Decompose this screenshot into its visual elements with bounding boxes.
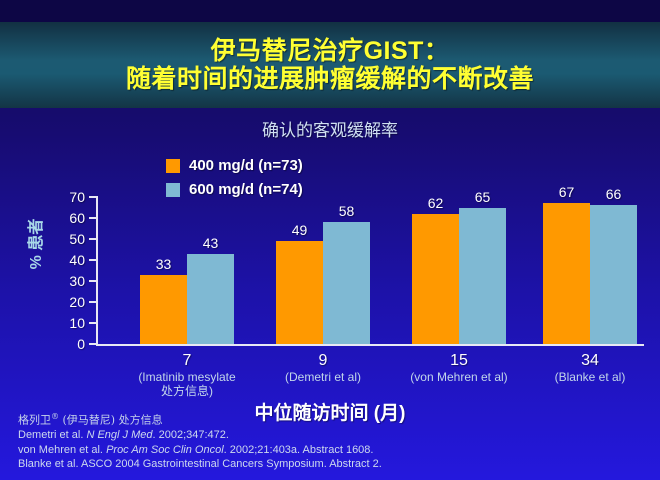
bar-value-7-600: 43: [187, 236, 234, 250]
legend-label-600: 600 mg/d (n=74): [189, 181, 303, 198]
ref1-brand: 格列卫: [18, 414, 51, 427]
ref3-journal: Proc Am Soc Clin Oncol: [106, 444, 224, 456]
title-line-1: 伊马替尼治疗GIST：: [211, 37, 450, 65]
x-group-months-9: 9: [238, 352, 408, 370]
bar-7-600: [187, 254, 234, 344]
bar-value-7-400: 33: [140, 257, 187, 271]
reference-footer: 格列卫® (伊马替尼) 处方信息 Demetri et al. N Engl J…: [18, 410, 578, 472]
x-group-source-15-0: (von Mehren et al): [374, 370, 544, 384]
ref2-a: Demetri et al.: [18, 429, 86, 441]
y-tick-label-40: 40: [45, 253, 85, 267]
y-tick-20: [89, 301, 96, 303]
bar-7-400: [140, 275, 187, 344]
y-axis-line: [96, 196, 98, 346]
y-tick-70: [89, 196, 96, 198]
x-group-label-15: 15(von Mehren et al): [374, 352, 544, 384]
y-tick-60: [89, 217, 96, 219]
y-tick-label-30: 30: [45, 274, 85, 288]
legend-item-600: 600 mg/d (n=74): [166, 179, 303, 200]
title-line-2: 随着时间的进展肿瘤缓解的不断改善: [126, 65, 534, 93]
y-tick-50: [89, 238, 96, 240]
reference-line-4: Blanke et al. ASCO 2004 Gastrointestinal…: [18, 457, 578, 472]
ref3-b: . 2002;21:403a. Abstract 1608.: [224, 444, 374, 456]
legend-swatch-400: [166, 159, 180, 173]
reference-line-1: 格列卫® (伊马替尼) 处方信息: [18, 410, 578, 428]
y-tick-40: [89, 259, 96, 261]
reference-line-2: Demetri et al. N Engl J Med. 2002;347:47…: [18, 428, 578, 443]
legend-item-400: 400 mg/d (n=73): [166, 155, 303, 176]
x-group-source-9-0: (Demetri et al): [238, 370, 408, 384]
bar-value-9-600: 58: [323, 204, 370, 218]
bar-34-600: [590, 205, 637, 344]
bar-9-600: [323, 222, 370, 344]
x-group-label-7: 7(Imatinib mesylate处方信息): [102, 352, 272, 398]
title-banner: 伊马替尼治疗GIST： 随着时间的进展肿瘤缓解的不断改善: [0, 22, 660, 108]
y-tick-0: [89, 343, 96, 345]
y-tick-label-60: 60: [45, 211, 85, 225]
bar-value-34-400: 67: [543, 185, 590, 199]
y-tick-label-70: 70: [45, 190, 85, 204]
y-tick-label-20: 20: [45, 295, 85, 309]
y-axis-title: % 患者: [22, 204, 46, 284]
top-strip: [0, 0, 660, 22]
x-group-label-9: 9(Demetri et al): [238, 352, 408, 384]
bar-value-15-400: 62: [412, 196, 459, 210]
y-tick-10: [89, 322, 96, 324]
bar-9-400: [276, 241, 323, 344]
x-group-label-34: 34(Blanke et al): [505, 352, 660, 384]
x-group-months-34: 34: [505, 352, 660, 370]
bar-value-15-600: 65: [459, 190, 506, 204]
x-axis-line: [96, 344, 644, 346]
ref1-rest: (伊马替尼) 处方信息: [59, 414, 163, 427]
bar-value-34-600: 66: [590, 187, 637, 201]
ref3-a: von Mehren et al.: [18, 444, 106, 456]
x-group-months-15: 15: [374, 352, 544, 370]
bar-15-400: [412, 214, 459, 344]
bar-value-9-400: 49: [276, 223, 323, 237]
chart-subtitle: 确认的客观缓解率: [0, 116, 660, 141]
bar-34-400: [543, 203, 590, 344]
x-group-source-7-1: 处方信息): [102, 384, 272, 398]
x-group-source-7-0: (Imatinib mesylate: [102, 370, 272, 384]
slide: 伊马替尼治疗GIST： 随着时间的进展肿瘤缓解的不断改善 确认的客观缓解率 40…: [0, 0, 660, 480]
y-tick-label-10: 10: [45, 316, 85, 330]
reference-line-3: von Mehren et al. Proc Am Soc Clin Oncol…: [18, 443, 578, 458]
ref2-b: . 2002;347:472.: [153, 429, 229, 441]
y-tick-label-50: 50: [45, 232, 85, 246]
x-group-source-34-0: (Blanke et al): [505, 370, 660, 384]
x-group-months-7: 7: [102, 352, 272, 370]
chart-legend: 400 mg/d (n=73) 600 mg/d (n=74): [166, 155, 303, 203]
ref1-sup: ®: [51, 412, 59, 421]
legend-label-400: 400 mg/d (n=73): [189, 157, 303, 174]
bar-15-600: [459, 208, 506, 345]
ref2-journal: N Engl J Med: [86, 429, 152, 441]
y-tick-label-0: 0: [45, 337, 85, 351]
y-tick-30: [89, 280, 96, 282]
legend-swatch-600: [166, 183, 180, 197]
